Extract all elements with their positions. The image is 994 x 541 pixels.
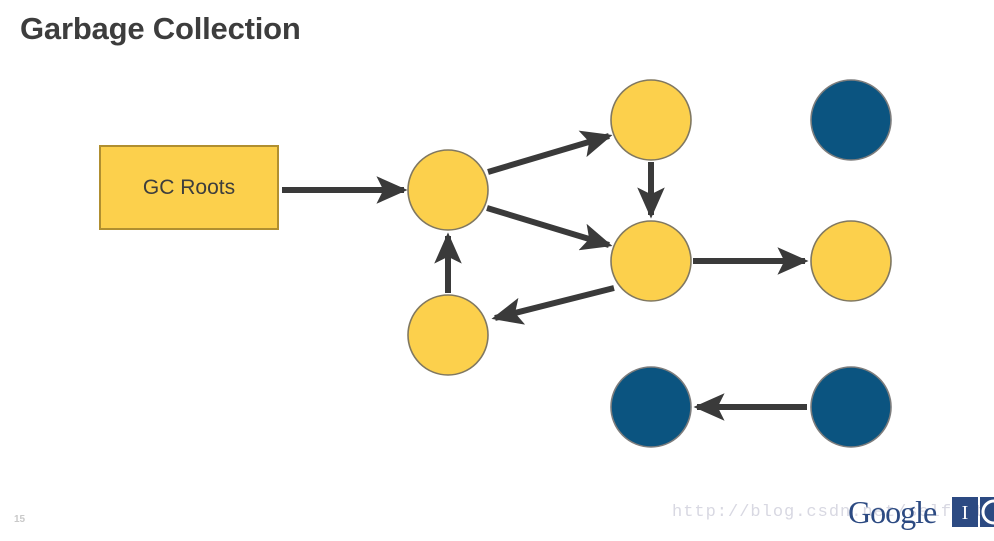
google-io-logo: Google I [848,493,988,535]
io-mark-icon: I [952,497,994,527]
slide-canvas: Garbage Collection [0,0,994,541]
gc-reachability-diagram [0,0,994,541]
object-node-garbage-g2 [611,367,691,447]
object-node-reachable-n5 [408,295,488,375]
object-node-garbage-g3 [811,367,891,447]
object-node-reachable-n4 [811,221,891,301]
gc-roots-box [100,146,278,229]
edge-n3-to-n5 [495,288,614,318]
io-mark-left-letter: I [962,502,969,524]
google-wordmark: Google [848,495,936,529]
object-node-reachable-n2 [611,80,691,160]
edge-n1-to-n2 [488,136,609,172]
slide-page-number: 15 [14,514,25,525]
edge-n1-to-n3 [487,208,609,245]
object-node-reachable-n3 [611,221,691,301]
object-node-reachable-n1 [408,150,488,230]
edge-group [282,136,807,407]
object-node-garbage-g1 [811,80,891,160]
